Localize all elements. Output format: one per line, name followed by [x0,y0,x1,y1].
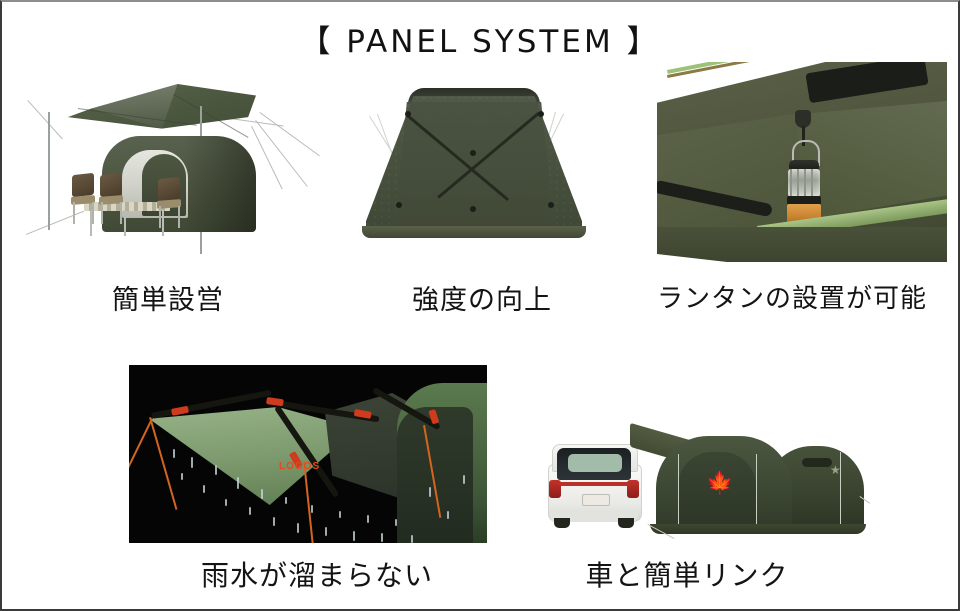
rear-trim-bar [558,482,630,486]
photo-tent-side-panel-x-bracing [350,80,598,266]
caption-easy-setup: 簡単設営 [18,278,318,317]
photo-night-rain-runoff-canopy: LOGOS [129,365,487,543]
tent-floor-edge [362,226,586,238]
tent-rear-vent [802,458,832,467]
caption-lantern-hanging: ランタンの設置が可能 [636,278,948,315]
panel-system-infographic: 【 PANEL SYSTEM 】 [0,0,960,611]
wheel-right [618,518,634,528]
maple-leaf-icon: 🍁 [706,472,728,496]
guy-line-orange [303,461,315,543]
caption-no-rain-pooling: 雨水が溜まらない [152,554,482,594]
kei-van-rear [548,434,640,530]
photo-interior-ceiling-with-lantern [657,62,947,262]
caption-car-link: 車と簡単リンク [522,554,852,594]
page-title: 【 PANEL SYSTEM 】 [2,16,958,61]
photo-tent-with-extended-awning [24,74,324,270]
tent-ground-edge [650,524,866,534]
tent-body-shading [184,136,256,232]
hanging-lantern [783,140,825,218]
wheel-left [554,518,570,528]
brand-logo-mark: LOGOS [279,461,320,472]
car-interior-seats [568,454,622,472]
license-plate [582,494,610,506]
lower-tent-fabric [657,227,947,262]
caption-improved-strength: 強度の向上 [332,278,632,317]
canopy-green-panel [149,407,357,505]
photo-car-connected-to-tent: ★ 🍁 [530,420,870,548]
guy-line-orange [129,418,153,487]
pole-clip-red [171,406,189,416]
